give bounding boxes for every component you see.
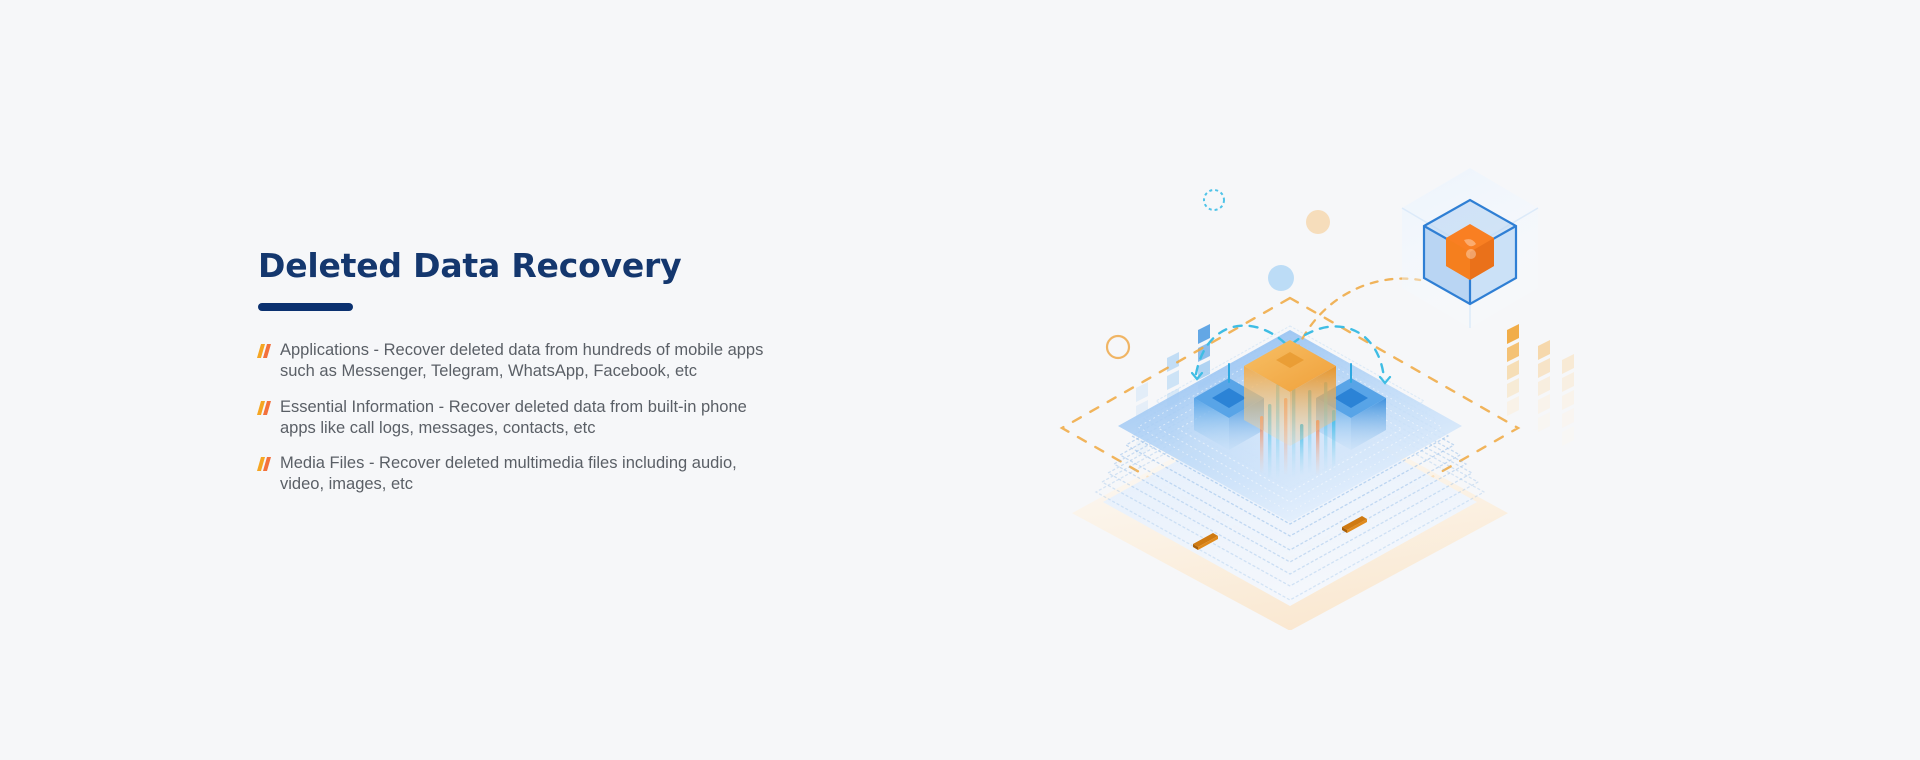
- feature-list: Applications - Recover deleted data from…: [258, 340, 918, 495]
- orange-ring: [1107, 336, 1129, 358]
- title-underline-rule: [258, 303, 353, 311]
- beige-dot: [1306, 210, 1330, 234]
- feature-text: Media Files - Recover deleted multimedia…: [280, 454, 737, 493]
- list-item: Essential Information - Recover deleted …: [258, 397, 780, 439]
- dashed-orange-arc: [1296, 279, 1420, 352]
- feature-text: Essential Information - Recover deleted …: [280, 398, 747, 437]
- double-slash-icon: [258, 457, 273, 471]
- hero-text-panel: Deleted Data Recovery Applications - Rec…: [258, 248, 918, 495]
- floating-nested-cube: [1402, 168, 1538, 328]
- double-slash-icon: [258, 401, 273, 415]
- list-item: Applications - Recover deleted data from…: [258, 340, 780, 382]
- blue-dot: [1268, 265, 1294, 291]
- dashed-cyan-circle: [1204, 190, 1224, 210]
- feature-text: Applications - Recover deleted data from…: [280, 341, 763, 380]
- double-slash-icon: [258, 344, 273, 358]
- list-item: Media Files - Recover deleted multimedia…: [258, 453, 780, 495]
- isometric-data-recovery-illustration: [1000, 130, 1580, 630]
- page-title: Deleted Data Recovery: [258, 248, 918, 284]
